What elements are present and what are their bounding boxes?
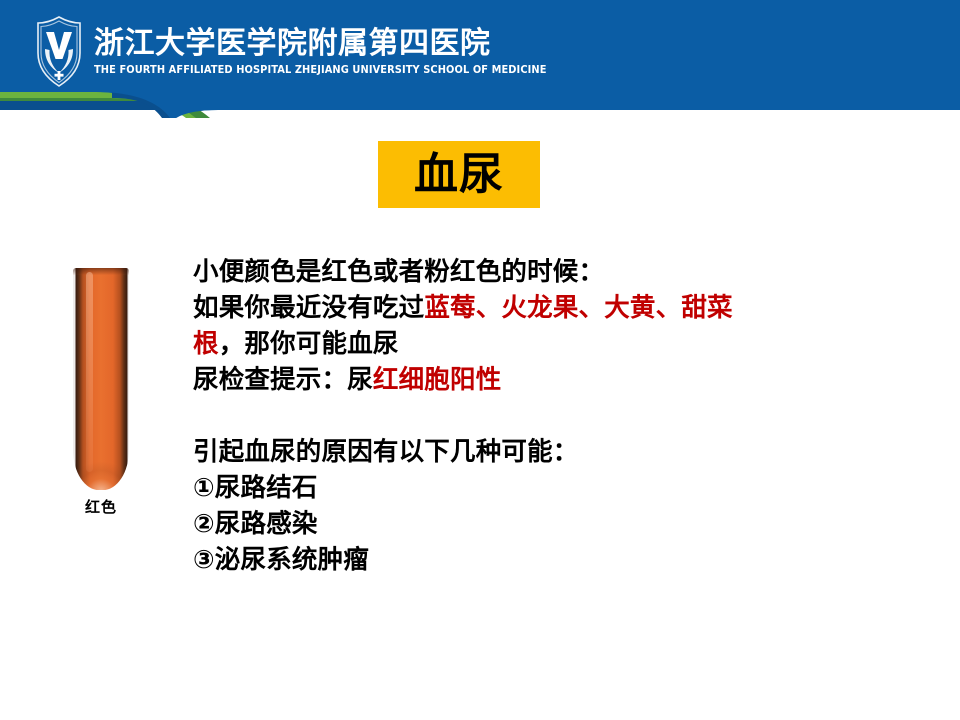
slide-title-text: 血尿	[414, 153, 504, 197]
text-segment: ①尿路结石	[193, 473, 318, 503]
tube-meniscus	[73, 268, 129, 275]
slide-title-box: 血尿	[378, 141, 540, 208]
text-line: 根，那你可能血尿	[193, 326, 893, 362]
tube-bottom-shade	[73, 456, 129, 490]
test-tube-icon	[73, 268, 129, 490]
slide-body-text: 小便颜色是红色或者粉红色的时候：如果你最近没有吃过蓝莓、火龙果、大黄、甜菜根，那…	[193, 254, 893, 578]
text-segment-highlight: 红细胞阳性	[373, 365, 502, 395]
hospital-name-chinese: 浙江大学医学院附属第四医院	[94, 28, 563, 60]
text-segment-highlight: 根	[193, 329, 219, 359]
hospital-name-group: 浙江大学医学院附属第四医院 THE FOURTH AFFILIATED HOSP…	[94, 26, 563, 79]
hospital-logo-block: 浙江大学医学院附属第四医院 THE FOURTH AFFILIATED HOSP…	[34, 14, 563, 90]
text-segment: 如果你最近没有吃过	[193, 293, 424, 323]
text-segment: 尿检查提示：尿	[193, 365, 373, 395]
header-banner: 浙江大学医学院附属第四医院 THE FOURTH AFFILIATED HOSP…	[0, 0, 960, 118]
tube-highlight	[86, 272, 93, 472]
text-segment: ③泌尿系统肿瘤	[193, 545, 369, 575]
text-line	[193, 398, 893, 434]
text-line: 引起血尿的原因有以下几种可能：	[193, 434, 893, 470]
text-line: ③泌尿系统肿瘤	[193, 542, 893, 578]
text-line: ①尿路结石	[193, 470, 893, 506]
test-tube-caption: 红色	[55, 496, 147, 517]
text-segment: 引起血尿的原因有以下几种可能：	[193, 437, 579, 467]
test-tube-figure: 红色	[55, 268, 147, 517]
shield-logo-icon	[34, 15, 84, 89]
text-segment-highlight: 蓝莓、火龙果、大黄、甜菜	[424, 293, 732, 323]
text-segment: 小便颜色是红色或者粉红色的时候：	[193, 257, 604, 287]
text-line: 尿检查提示：尿红细胞阳性	[193, 362, 893, 398]
text-segment: ②尿路感染	[193, 509, 318, 539]
text-segment: ，那你可能血尿	[219, 329, 399, 359]
text-line: ②尿路感染	[193, 506, 893, 542]
hospital-name-english: THE FOURTH AFFILIATED HOSPITAL ZHEJIANG …	[94, 63, 547, 78]
text-line: 如果你最近没有吃过蓝莓、火龙果、大黄、甜菜	[193, 290, 893, 326]
text-line: 小便颜色是红色或者粉红色的时候：	[193, 254, 893, 290]
